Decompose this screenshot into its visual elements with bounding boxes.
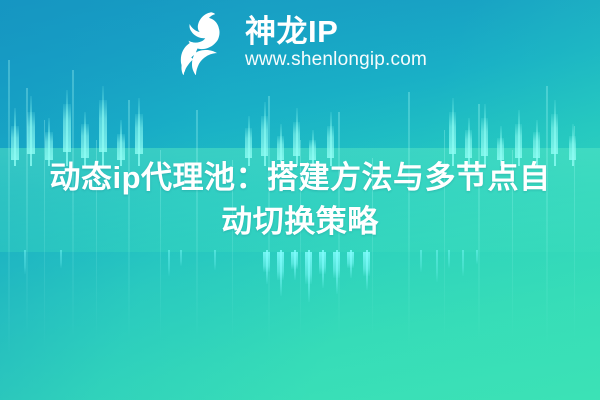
dragon-head-icon xyxy=(173,9,235,75)
brand-url: www.shenlongip.com xyxy=(245,50,427,69)
banner-image: 神龙IP www.shenlongip.com 动态ip代理池：搭建方法与多节点… xyxy=(0,0,600,400)
logo-text: 神龙IP www.shenlongip.com xyxy=(245,16,427,69)
brand-name: 神龙IP xyxy=(245,16,427,47)
page-title-line-2: 动切换策略 xyxy=(18,200,582,244)
page-title: 动态ip代理池：搭建方法与多节点自 动切换策略 xyxy=(18,156,582,244)
logo: 神龙IP www.shenlongip.com xyxy=(0,6,600,78)
page-title-line-1: 动态ip代理池：搭建方法与多节点自 xyxy=(18,156,582,200)
